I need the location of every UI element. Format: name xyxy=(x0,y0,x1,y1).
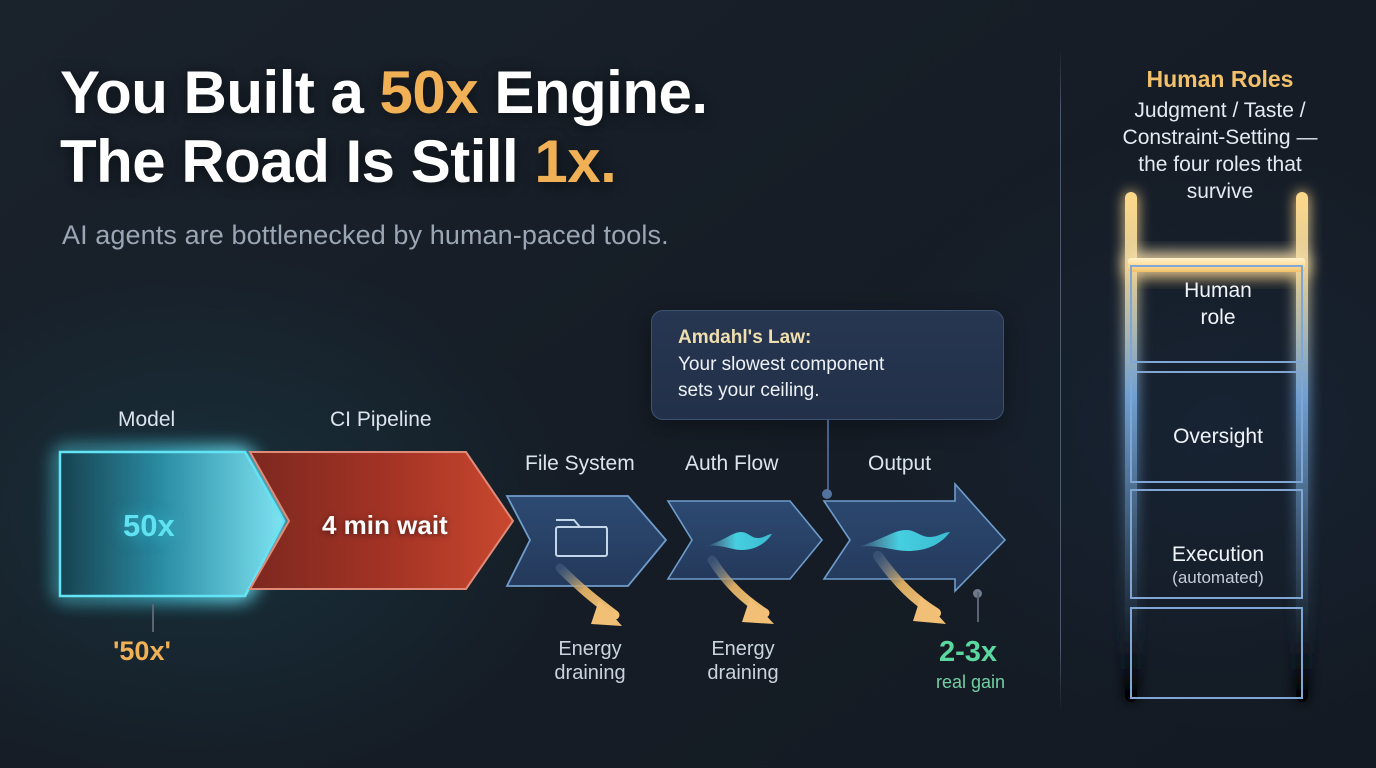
stage-label-ci-pipeline: CI Pipeline xyxy=(330,408,432,432)
ladder-label-execution: Execution (automated) xyxy=(1128,543,1308,588)
ladder-label-3-sub: (automated) xyxy=(1128,568,1308,588)
ladder-label-1-line2: role xyxy=(1128,304,1308,331)
energy-note-2-line2: draining xyxy=(673,662,813,686)
pipeline-stage-filesystem xyxy=(507,496,666,586)
real-gain-tick xyxy=(977,592,979,622)
energy-note-1-line2: draining xyxy=(520,662,660,686)
panel-divider xyxy=(1060,46,1061,712)
model-note-tick xyxy=(152,604,154,632)
stage-value-model: 50x xyxy=(123,508,175,544)
energy-note-2-line1: Energy xyxy=(673,638,813,662)
energy-draining-note-2: Energy draining xyxy=(673,638,813,685)
model-note-label: '50x' xyxy=(113,636,171,667)
pipeline-stage-output xyxy=(824,484,1005,591)
real-gain-caption: real gain xyxy=(936,672,1005,693)
ladder-label-2-line1: Oversight xyxy=(1128,425,1308,449)
ladder-label-1-line1: Human xyxy=(1128,277,1308,304)
human-roles-ladder xyxy=(1100,180,1360,720)
ladder-label-human-role: Human role xyxy=(1128,277,1308,332)
human-roles-subtitle-line3: the four roles that xyxy=(1078,152,1362,179)
real-gain-value: 2-3x xyxy=(939,636,997,669)
human-roles-subtitle-line2: Constraint-Setting — xyxy=(1078,125,1362,152)
human-roles-subtitle-line1: Judgment / Taste / xyxy=(1078,98,1362,125)
stage-label-file-system: File System xyxy=(525,452,635,476)
energy-note-1-line1: Energy xyxy=(520,638,660,662)
stage-label-output: Output xyxy=(868,452,931,476)
ladder-label-oversight: Oversight xyxy=(1128,425,1308,449)
human-roles-title: Human Roles xyxy=(1080,66,1360,93)
stage-label-model: Model xyxy=(118,408,175,432)
stage-value-ci-pipeline: 4 min wait xyxy=(322,510,448,541)
ladder-label-3-line1: Execution xyxy=(1128,543,1308,567)
energy-draining-note-1: Energy draining xyxy=(520,638,660,685)
stage-label-auth-flow: Auth Flow xyxy=(685,452,778,476)
pipeline-stage-authflow xyxy=(668,501,822,579)
infographic-canvas: You Built a 50x Engine. The Road Is Stil… xyxy=(0,0,1376,768)
